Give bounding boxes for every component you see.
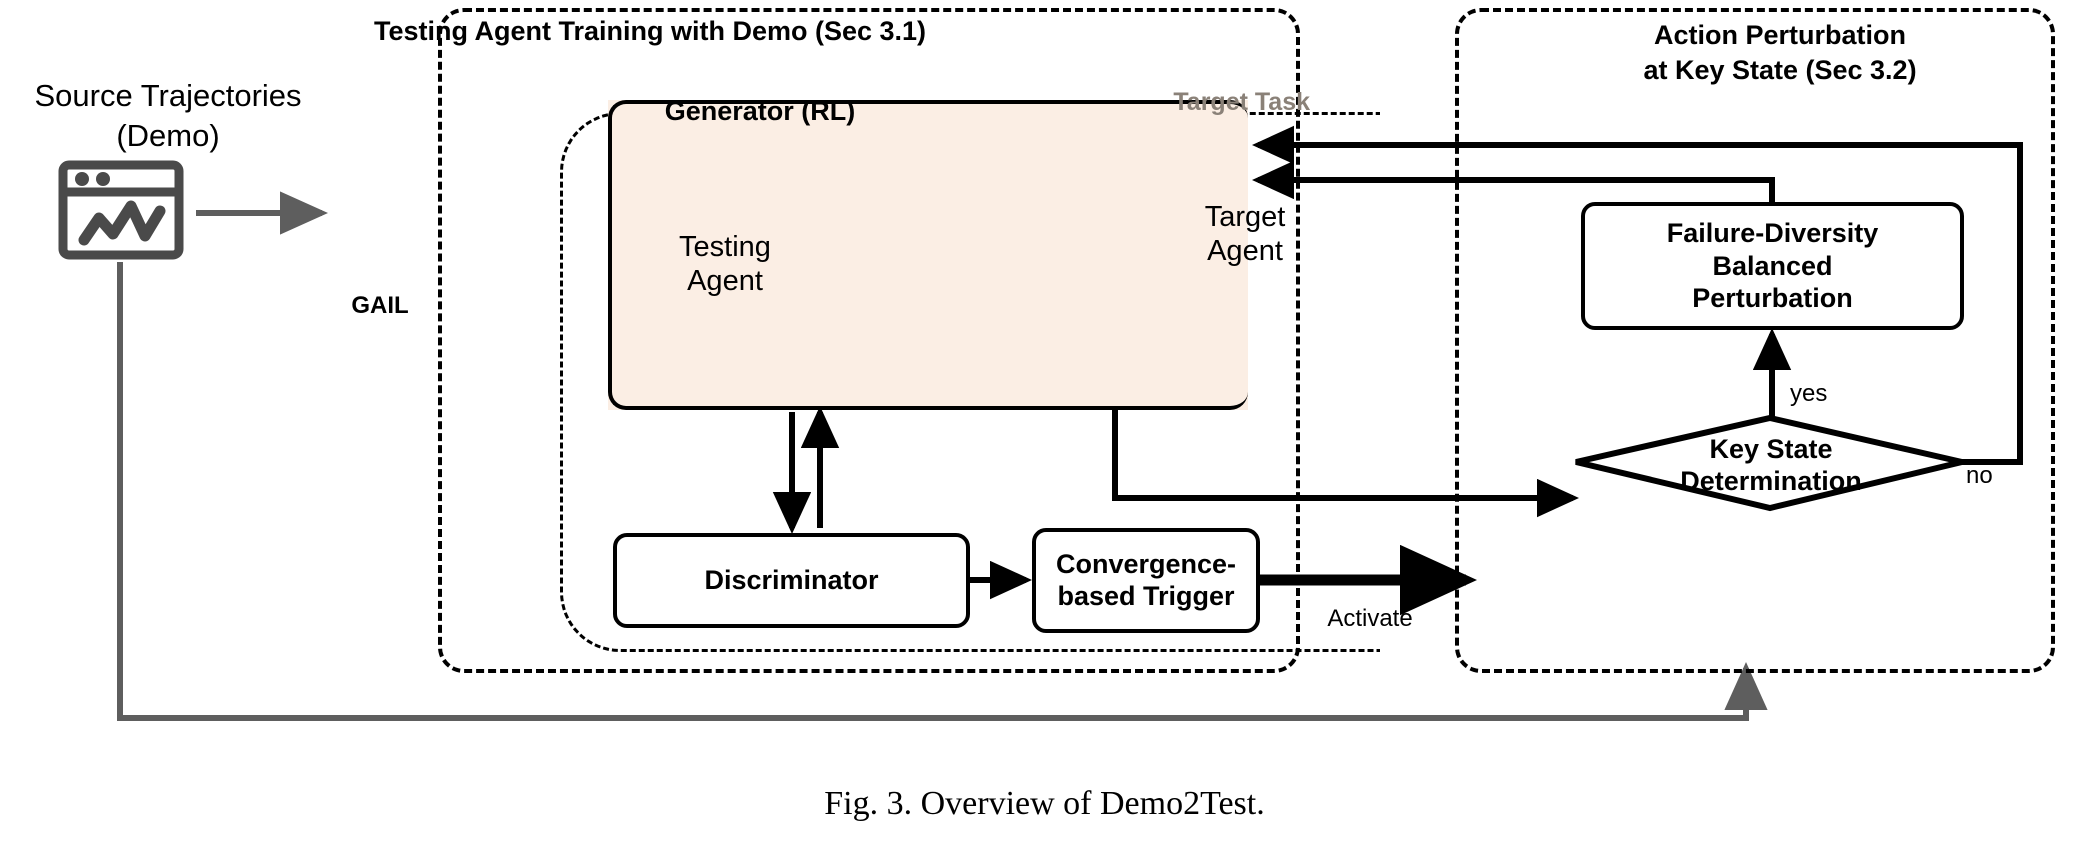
key-state-label-line1: Key State bbox=[1640, 434, 1902, 466]
target-agent-caption: Target Agent bbox=[1140, 200, 1350, 268]
figure-caption: Fig. 3. Overview of Demo2Test. bbox=[0, 785, 2089, 823]
target-agent-caption-line1: Target bbox=[1140, 200, 1350, 234]
right-panel-title-line1: Action Perturbation bbox=[1500, 18, 2060, 53]
yes-edge-label: yes bbox=[1790, 380, 1850, 408]
testing-agent-caption-line1: Testing bbox=[620, 230, 830, 264]
source-title-line2: (Demo) bbox=[8, 116, 328, 156]
convergence-trigger-box: Convergence- based Trigger bbox=[1032, 528, 1260, 633]
perturbation-label-line3: Perturbation bbox=[1667, 282, 1879, 315]
right-section-panel bbox=[1455, 8, 2055, 673]
testing-agent-caption-line2: Agent bbox=[620, 264, 830, 298]
discriminator-box: Discriminator bbox=[613, 533, 970, 628]
left-panel-title: Testing Agent Training with Demo (Sec 3.… bbox=[330, 16, 970, 47]
key-state-determination-label: Key State Determination bbox=[1640, 434, 1902, 498]
perturbation-label-line2: Balanced bbox=[1667, 250, 1879, 283]
testing-agent-caption: Testing Agent bbox=[620, 230, 830, 298]
key-state-label-line2: Determination bbox=[1640, 466, 1902, 498]
trigger-label-line1: Convergence- bbox=[1056, 549, 1236, 580]
target-agent-caption-line2: Agent bbox=[1140, 234, 1350, 268]
target-task-label: Target Task bbox=[1100, 88, 1310, 117]
no-edge-label: no bbox=[1966, 462, 2016, 490]
trigger-label-line2: based Trigger bbox=[1056, 581, 1236, 612]
generator-title: Generator (RL) bbox=[560, 96, 960, 127]
discriminator-label: Discriminator bbox=[704, 565, 878, 596]
window-chart-icon bbox=[63, 165, 179, 255]
activate-edge-label: Activate bbox=[1300, 605, 1440, 633]
gail-label: GAIL bbox=[340, 292, 420, 320]
failure-diversity-perturbation-box: Failure-Diversity Balanced Perturbation bbox=[1581, 202, 1964, 330]
source-title-line1: Source Trajectories bbox=[8, 76, 328, 116]
right-panel-title: Action Perturbation at Key State (Sec 3.… bbox=[1500, 18, 2060, 87]
perturbation-label-line1: Failure-Diversity bbox=[1667, 217, 1879, 250]
figure-canvas: Source Trajectories (Demo) Testing Agent… bbox=[0, 0, 2089, 854]
source-trajectories-title: Source Trajectories (Demo) bbox=[8, 76, 328, 155]
right-panel-title-line2: at Key State (Sec 3.2) bbox=[1500, 53, 2060, 88]
